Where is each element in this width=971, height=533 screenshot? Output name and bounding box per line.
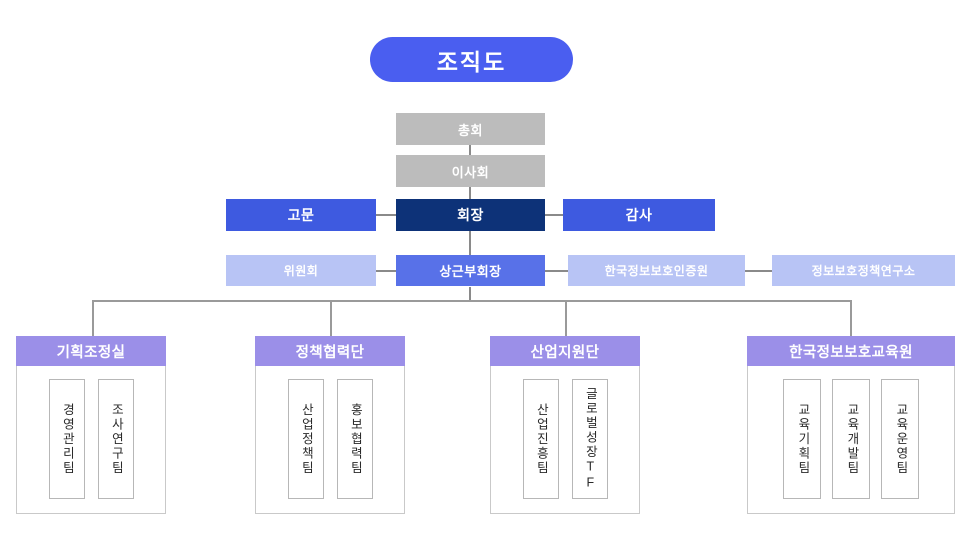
department-team-list: 산업정책팀 홍보협력팀 [255,366,405,514]
organization-chart: 조직도 총회 이사회 고문 회장 감사 위원회 상근부회장 한국정보보호인증원 … [0,0,971,533]
node-assembly[interactable]: 총회 [396,113,545,145]
team-box[interactable]: 조사연구팀 [98,379,134,499]
team-box[interactable]: 글로벌성장TF [572,379,608,499]
node-korea-information-security-certification[interactable]: 한국정보보호인증원 [568,255,745,286]
team-box[interactable]: 교육운영팀 [881,379,919,499]
department-team-list: 산업진흥팀 글로벌성장TF [490,366,640,514]
connector-drop-dept-4 [850,300,852,336]
team-box[interactable]: 경영관리팀 [49,379,85,499]
connector-certification-research [745,270,772,272]
node-auditor[interactable]: 감사 [563,199,715,231]
team-box[interactable]: 교육기획팀 [783,379,821,499]
node-advisor[interactable]: 고문 [226,199,376,231]
connector-vicechairman-certification [545,270,568,272]
connector-board-chairman [469,187,471,199]
department-policy-cooperation: 정책협력단 산업정책팀 홍보협력팀 [255,336,405,514]
connector-chairman-auditor [545,214,563,216]
page-title: 조직도 [370,37,573,82]
team-box[interactable]: 산업진흥팀 [523,379,559,499]
department-team-list: 경영관리팀 조사연구팀 [16,366,166,514]
connector-chairman-vicechairman [469,231,471,255]
connector-drop-dept-3 [565,300,567,336]
connector-vicechairman-bus [469,287,471,301]
connector-department-bus [92,300,852,302]
connector-advisor-chairman [376,214,396,216]
team-box[interactable]: 교육개발팀 [832,379,870,499]
department-header[interactable]: 한국정보보호교육원 [747,336,955,366]
node-information-security-policy-institute[interactable]: 정보보호정책연구소 [772,255,955,286]
department-header[interactable]: 정책협력단 [255,336,405,366]
connector-drop-dept-2 [330,300,332,336]
department-korea-information-security-education: 한국정보보호교육원 교육기획팀 교육개발팀 교육운영팀 [747,336,955,514]
node-committee[interactable]: 위원회 [226,255,376,286]
department-industry-support: 산업지원단 산업진흥팀 글로벌성장TF [490,336,640,514]
department-team-list: 교육기획팀 교육개발팀 교육운영팀 [747,366,955,514]
department-header[interactable]: 산업지원단 [490,336,640,366]
team-box[interactable]: 홍보협력팀 [337,379,373,499]
connector-drop-dept-1 [92,300,94,336]
node-chairman[interactable]: 회장 [396,199,545,231]
node-standing-vice-chairman[interactable]: 상근부회장 [396,255,545,286]
department-planning-coordination: 기획조정실 경영관리팀 조사연구팀 [16,336,166,514]
connector-committee-vicechairman [376,270,396,272]
node-board-of-directors[interactable]: 이사회 [396,155,545,187]
department-header[interactable]: 기획조정실 [16,336,166,366]
connector-assembly-board [469,145,471,155]
team-box[interactable]: 산업정책팀 [288,379,324,499]
